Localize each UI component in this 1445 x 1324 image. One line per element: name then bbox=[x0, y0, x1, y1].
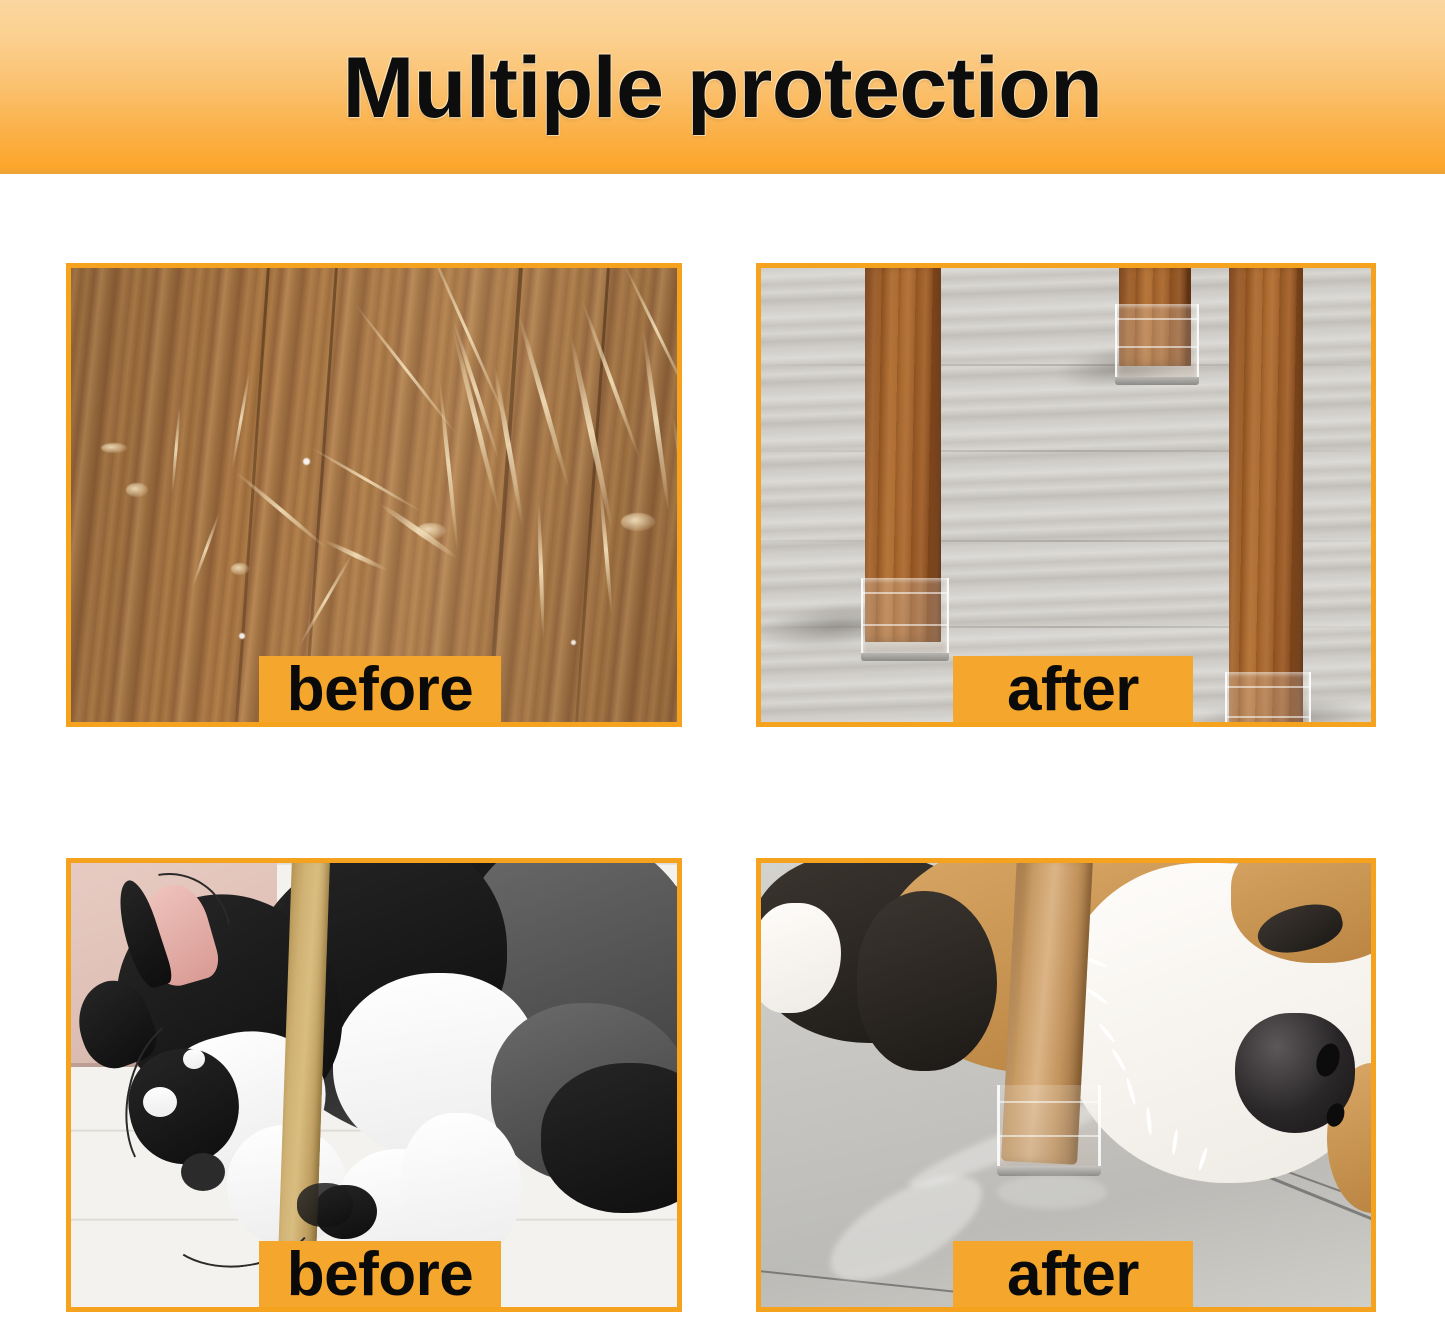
page-title: Multiple protection bbox=[343, 45, 1103, 131]
scratch-speck bbox=[239, 633, 245, 639]
comparison-grid: before bbox=[0, 174, 1445, 1324]
label-after: after bbox=[953, 656, 1193, 727]
scratch-blob bbox=[621, 513, 655, 531]
cap-band bbox=[1117, 318, 1197, 320]
scratch-blob bbox=[126, 483, 148, 497]
dog-shadow-fur bbox=[857, 891, 997, 1071]
cap-band bbox=[1000, 1135, 1098, 1137]
label-before-text: before bbox=[287, 1244, 473, 1311]
panel-bottom-left: before bbox=[66, 858, 682, 1312]
label-after: after bbox=[953, 1241, 1193, 1312]
label-after-text: after bbox=[1007, 659, 1139, 726]
cap-reflection bbox=[997, 1175, 1107, 1209]
cap-band bbox=[863, 592, 947, 594]
cap-band bbox=[1117, 346, 1197, 348]
panel-top-left: before bbox=[66, 263, 682, 727]
label-before: before bbox=[259, 656, 501, 727]
panel-bottom-right: after bbox=[756, 858, 1376, 1312]
cap-band bbox=[1227, 686, 1309, 688]
scratch-speck bbox=[571, 640, 576, 645]
leg-protector-cap-back bbox=[1115, 304, 1199, 380]
wood-floor-texture bbox=[71, 268, 677, 722]
scratch-blob bbox=[101, 443, 127, 453]
table-leg-right bbox=[1229, 268, 1303, 722]
label-after-text: after bbox=[1007, 1244, 1139, 1311]
leg-protector-cap-right bbox=[1225, 672, 1311, 722]
scratch-blob bbox=[231, 563, 249, 575]
label-before-text: before bbox=[287, 659, 473, 726]
cap-band bbox=[863, 624, 947, 626]
leg-protector-cap bbox=[997, 1085, 1101, 1170]
scratch-speck bbox=[303, 458, 310, 465]
cap-band bbox=[1227, 716, 1309, 718]
panel-top-right: after bbox=[756, 263, 1376, 727]
scratch-blob bbox=[416, 523, 446, 539]
header-banner: Multiple protection bbox=[0, 0, 1445, 174]
cap-band bbox=[1000, 1101, 1098, 1103]
table-legs-photo bbox=[761, 268, 1371, 722]
leg-protector-cap-left bbox=[861, 578, 949, 656]
label-before: before bbox=[259, 1241, 501, 1312]
scratched-floor-photo bbox=[71, 268, 677, 722]
